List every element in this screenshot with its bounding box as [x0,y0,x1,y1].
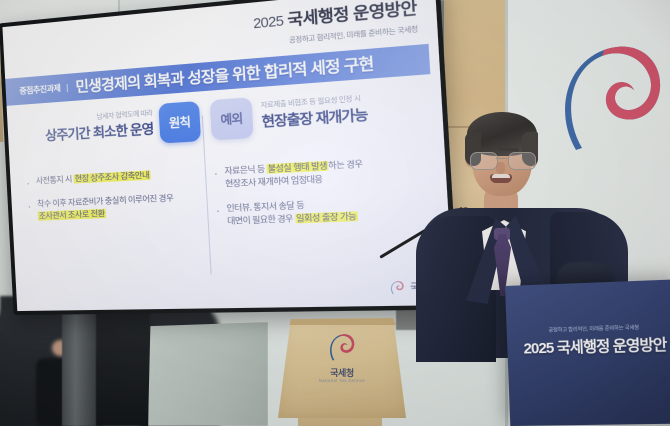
bullet-text: 하는 경우 [328,159,363,171]
policy-board-title: 2025 국세행정 운영방안 [507,333,670,359]
lectern-org-name-en: National Tax Service [278,378,406,383]
bullet-text: 대면이 필요한 경우 [227,214,295,226]
bullet-text: 자료은닉 등 [224,164,267,176]
glasses-bridge [496,158,508,159]
column-bullets: 사전통지 시 현장 상주조사 감축안내 착수 이후 자료준비가 충실히 이루어진… [24,166,208,223]
presentation-display: 2025 국세행정 운영방안 공정하고 합리적인, 미래를 준비하는 국세청 중… [0,0,459,315]
bullet-item: 자료은닉 등 불성실 행태 발생하는 경우 현장조사 재개하여 엄정대응 [211,154,439,192]
badge-principle: 원칙 [158,101,201,144]
badge-exception: 예외 [210,97,254,140]
policy-board: 공정하고 합리적인, 미래를 준비하는 국세청 2025 국세행정 운영방안 [505,279,670,426]
press-briefing-photo: 2025 국세행정 운영방안 공정하고 합리적인, 미래를 준비하는 국세청 중… [0,0,670,426]
lectern-front-panel: 국세청 National Tax Service [278,318,406,418]
nose [496,162,505,174]
lens-right [508,152,536,170]
bullet-highlight: 불성실 행태 발생 [266,161,328,174]
bullet-item: 착수 이후 자료준비가 충실히 이루어진 경우 조사관서 조사로 전환 [25,191,207,224]
bullet-item: 사전통지 시 현장 상주조사 감축안내 [24,166,205,188]
lectern: 국세청 National Tax Service [278,318,406,426]
lens-left [470,152,498,170]
taegeuk-icon [389,280,405,295]
taegeuk-icon [322,332,362,362]
bullet-text: 사전통지 시 [36,174,74,185]
slide-column-principle: 납세자 협력도에 따라 상주기간 최소한 운영 원칙 사전통지 시 현장 상주조… [20,99,208,235]
slide-header-year: 2025 [253,13,284,32]
column-heading: 납세자 협력도에 따라 상주기간 최소한 운영 원칙 [20,99,203,162]
column-heading: 자료제출 비협조 등 필요성 인정 시 현장출장 재개가능 예외 [207,82,436,151]
bullet-highlight: 일회성 출장 가능 [295,211,358,223]
display-stand-base [148,322,268,426]
lectern-top-edge [278,318,406,325]
bullet-highlight: 현장 상주조사 감축안내 [73,170,150,183]
column-title: 상주기간 최소한 운영 [45,118,154,145]
bullet-text: 착수 이후 자료준비가 충실히 이루어진 경우 [37,191,207,211]
policy-board-surface: 공정하고 합리적인, 미래를 준비하는 국세청 2025 국세행정 운영방안 [505,279,670,426]
slide-title-tag: 중점추진과제 [6,83,68,96]
display-stand-shadow [96,300,150,426]
teeth [492,174,510,178]
bullet-highlight: 조사관서 조사로 전환 [38,209,106,221]
slide-header: 2025 국세행정 운영방안 공정하고 합리적인, 미래를 준비하는 국세청 [252,0,418,48]
display-stand-pole [62,300,96,426]
